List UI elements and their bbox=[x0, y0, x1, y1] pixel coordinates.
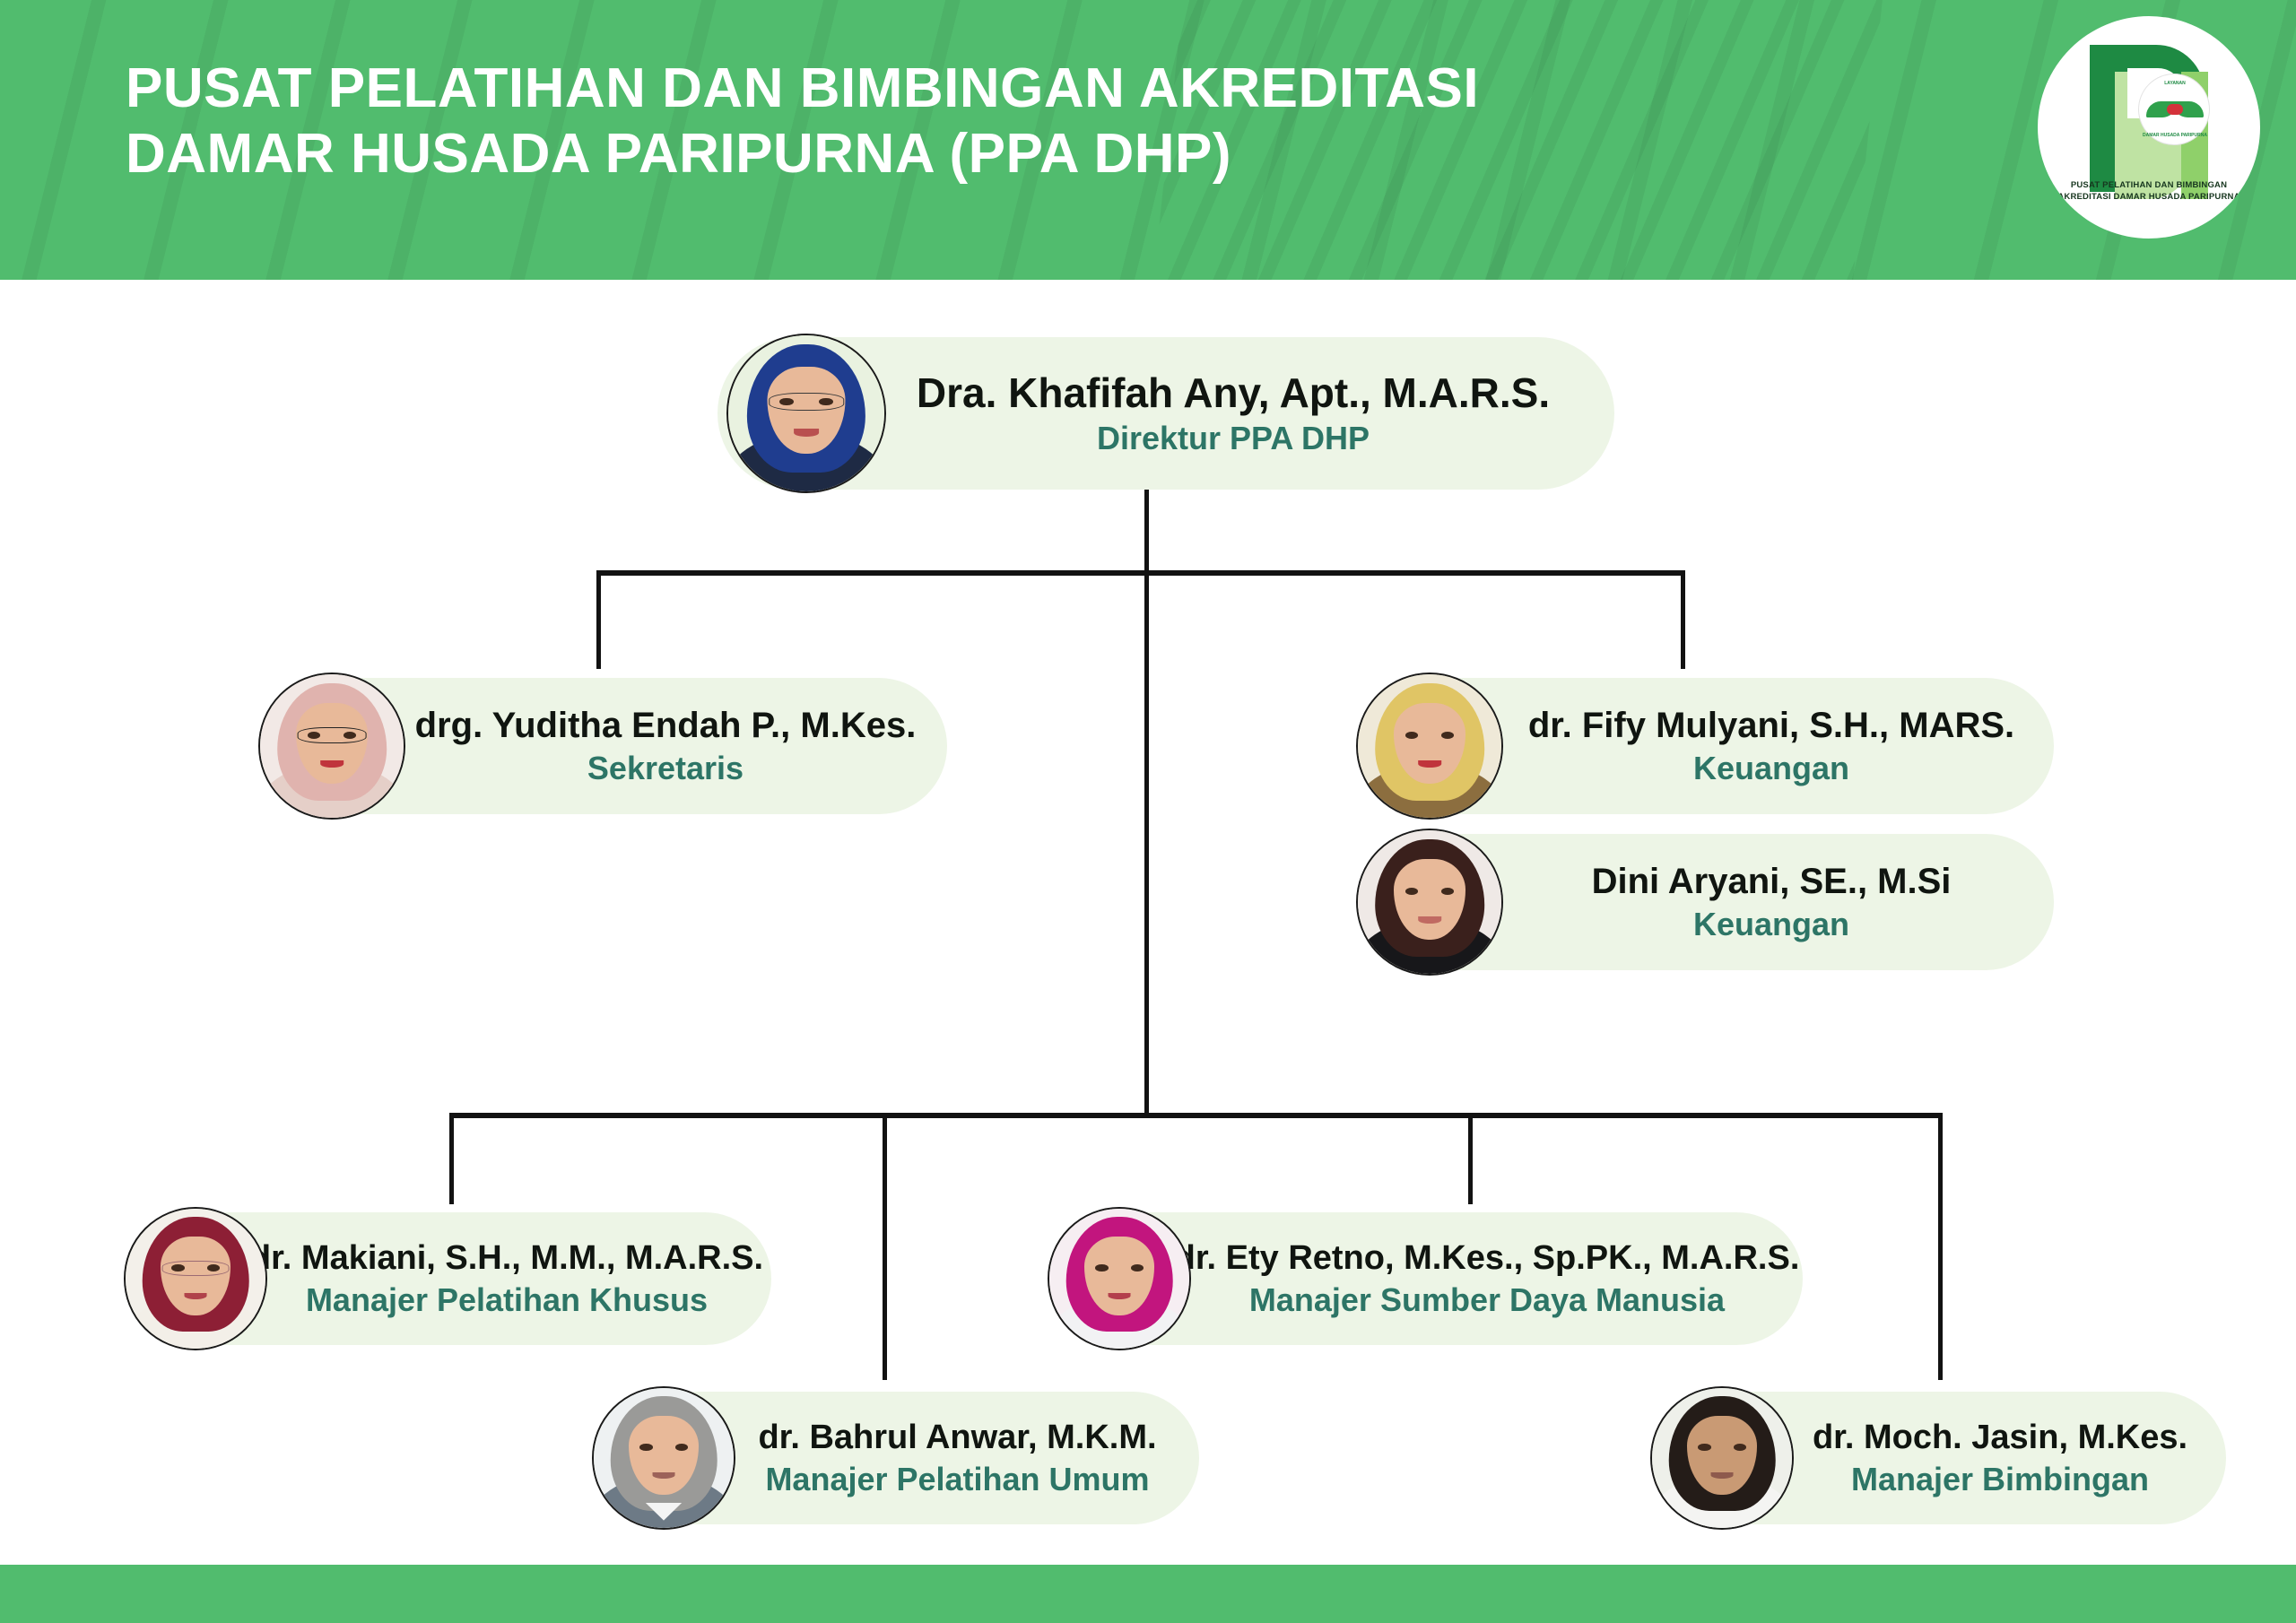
connector-director-trunk bbox=[1144, 489, 1149, 574]
logo-emblem-top-text: LAYANAN bbox=[2139, 81, 2211, 86]
logo-emblem-archipelago-icon bbox=[2167, 104, 2183, 115]
avatar-sekretaris bbox=[258, 673, 405, 820]
node-name: Dini Aryani, SE., M.Si bbox=[1489, 862, 2054, 902]
organization-logo: LAYANAN DAMAR HUSADA PARIPURNA PUSAT PEL… bbox=[2038, 16, 2260, 239]
connector-drop-bimbingan bbox=[1938, 1113, 1943, 1380]
org-node-manajer-bimbingan[interactable]: dr. Moch. Jasin, M.Kes. Manajer Bimbinga… bbox=[1661, 1392, 2226, 1524]
org-node-direktur[interactable]: Dra. Khafifah Any, Apt., M.A.R.S. Direkt… bbox=[717, 337, 1614, 490]
org-node-manajer-sdm[interactable]: dr. Ety Retno, M.Kes., Sp.PK., M.A.R.S. … bbox=[1058, 1212, 1803, 1345]
node-role: Direktur PPA DHP bbox=[852, 420, 1614, 456]
logo-caption: PUSAT PELATIHAN DAN BIMBINGAN AKREDITASI… bbox=[2047, 180, 2251, 203]
avatar-manajer-pelatihan-umum bbox=[592, 1386, 735, 1530]
connector-drop-sdm bbox=[1468, 1113, 1473, 1204]
page-footer bbox=[0, 1565, 2296, 1623]
page-header: PUSAT PELATIHAN DAN BIMBINGAN AKREDITASI… bbox=[0, 0, 2296, 280]
avatar-keuangan-fify bbox=[1356, 673, 1503, 820]
org-node-manajer-pelatihan-khusus[interactable]: dr. Makiani, S.H., M.M., M.A.R.S. Manaje… bbox=[135, 1212, 771, 1345]
avatar-manajer-sdm bbox=[1048, 1207, 1191, 1350]
node-name: dr. Makiani, S.H., M.M., M.A.R.S. bbox=[242, 1239, 771, 1278]
connector-drop-pelatihan-khusus bbox=[449, 1113, 454, 1204]
node-role: Manajer Sumber Daya Manusia bbox=[1171, 1281, 1803, 1318]
avatar-manajer-pelatihan-khusus bbox=[124, 1207, 267, 1350]
page-title: PUSAT PELATIHAN DAN BIMBINGAN AKREDITASI… bbox=[126, 56, 1973, 187]
node-name: dr. Bahrul Anwar, M.K.M. bbox=[716, 1419, 1199, 1457]
avatar-keuangan-dini bbox=[1356, 829, 1503, 976]
connector-drop-sekretaris bbox=[596, 570, 601, 669]
connector-director-lower-trunk bbox=[1144, 576, 1149, 1117]
node-role: Sekretaris bbox=[384, 750, 947, 786]
node-role: Manajer Pelatihan Khusus bbox=[242, 1281, 771, 1318]
avatar-direktur bbox=[726, 334, 886, 493]
connector-level2-bar bbox=[449, 1113, 1943, 1118]
node-name: Dra. Khafifah Any, Apt., M.A.R.S. bbox=[852, 370, 1614, 417]
org-node-keuangan-fify[interactable]: dr. Fify Mulyani, S.H., MARS. Keuangan bbox=[1363, 678, 2054, 814]
connector-drop-pelatihan-umum bbox=[883, 1113, 887, 1380]
org-node-manajer-pelatihan-umum[interactable]: dr. Bahrul Anwar, M.K.M. Manajer Pelatih… bbox=[603, 1392, 1199, 1524]
logo-emblem-icon: LAYANAN DAMAR HUSADA PARIPURNA bbox=[2138, 74, 2210, 145]
node-role: Manajer Pelatihan Umum bbox=[716, 1461, 1199, 1497]
node-name: dr. Moch. Jasin, M.Kes. bbox=[1774, 1419, 2226, 1457]
node-role: Manajer Bimbingan bbox=[1774, 1461, 2226, 1497]
node-name: drg. Yuditha Endah P., M.Kes. bbox=[384, 706, 947, 746]
avatar-manajer-bimbingan bbox=[1650, 1386, 1794, 1530]
node-name: dr. Ety Retno, M.Kes., Sp.PK., M.A.R.S. bbox=[1171, 1239, 1803, 1278]
org-node-sekretaris[interactable]: drg. Yuditha Endah P., M.Kes. Sekretaris bbox=[265, 678, 947, 814]
logo-emblem-bottom-text: DAMAR HUSADA PARIPURNA bbox=[2139, 133, 2211, 138]
org-node-keuangan-dini[interactable]: Dini Aryani, SE., M.Si Keuangan bbox=[1363, 834, 2054, 970]
node-name: dr. Fify Mulyani, S.H., MARS. bbox=[1489, 706, 2054, 746]
node-role: Keuangan bbox=[1489, 906, 2054, 942]
connector-drop-keuangan bbox=[1681, 570, 1685, 669]
node-role: Keuangan bbox=[1489, 750, 2054, 786]
connector-level1-bar bbox=[596, 570, 1685, 576]
